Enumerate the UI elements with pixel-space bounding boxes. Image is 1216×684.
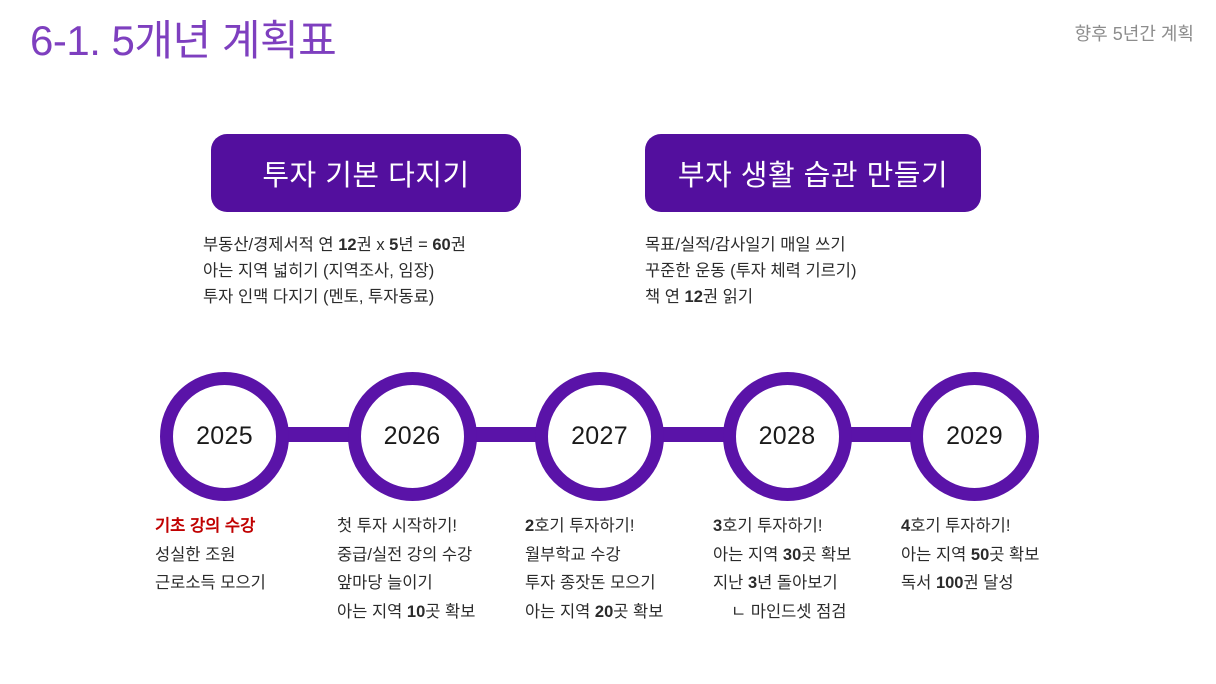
timeline-node-year: 2028 bbox=[759, 422, 816, 451]
timeline-node-2028[interactable]: 2028 bbox=[723, 372, 852, 501]
year-detail-column-2026: 첫 투자 시작하기!중급/실전 강의 수강앞마당 늘이기아는 지역 10곳 확보 bbox=[337, 512, 475, 626]
year-detail-line: 성실한 조원 bbox=[155, 541, 266, 570]
year-detail-line: 지난 3년 돌아보기 bbox=[713, 569, 851, 598]
year-detail-column-2029: 4호기 투자하기!아는 지역 50곳 확보독서 100권 달성 bbox=[901, 512, 1039, 598]
year-detail-line: 3호기 투자하기! bbox=[713, 512, 851, 541]
year-detail-line: 2호기 투자하기! bbox=[525, 512, 663, 541]
year-detail-line: 아는 지역 30곳 확보 bbox=[713, 541, 851, 570]
numeric-emphasis: 100 bbox=[936, 574, 964, 592]
year-detail-line: 첫 투자 시작하기! bbox=[337, 512, 475, 541]
theme-detail-line: 부동산/경제서적 연 12권 x 5년 = 60권 bbox=[203, 232, 466, 258]
timeline-node-2025[interactable]: 2025 bbox=[160, 372, 289, 501]
timeline-node-2026[interactable]: 2026 bbox=[348, 372, 477, 501]
timeline-connector bbox=[848, 427, 915, 442]
year-detail-line: 월부학교 수강 bbox=[525, 541, 663, 570]
page-subtitle: 향후 5년간 계획 bbox=[1075, 24, 1194, 46]
timeline-node-year: 2026 bbox=[384, 422, 441, 451]
year-detail-line: 투자 종잣돈 모으기 bbox=[525, 569, 663, 598]
page-title: 6-1. 5개년 계획표 bbox=[30, 16, 336, 66]
year-detail-line: ㄴ 마인드셋 점검 bbox=[713, 598, 851, 627]
timeline-node-year: 2029 bbox=[946, 422, 1003, 451]
numeric-emphasis: 30 bbox=[783, 546, 801, 564]
numeric-emphasis: 3 bbox=[748, 574, 757, 592]
theme-detail-line: 아는 지역 넓히기 (지역조사, 임장) bbox=[203, 258, 466, 284]
timeline-node-year: 2027 bbox=[571, 422, 628, 451]
numeric-emphasis: 12 bbox=[685, 288, 703, 306]
numeric-emphasis: 3 bbox=[713, 517, 722, 535]
year-detail-line: 아는 지역 10곳 확보 bbox=[337, 598, 475, 627]
timeline-node-2027[interactable]: 2027 bbox=[535, 372, 664, 501]
timeline-connector bbox=[285, 427, 352, 442]
year-detail-line: 아는 지역 50곳 확보 bbox=[901, 541, 1039, 570]
timeline-connector bbox=[660, 427, 727, 442]
numeric-emphasis: 10 bbox=[407, 603, 425, 621]
numeric-emphasis: 5 bbox=[389, 236, 398, 254]
theme-pill-label: 투자 기본 다지기 bbox=[262, 152, 469, 194]
numeric-emphasis: 12 bbox=[338, 236, 356, 254]
year-detail-column-2025: 기초 강의 수강성실한 조원근로소득 모으기 bbox=[155, 512, 266, 598]
numeric-emphasis: 4 bbox=[901, 517, 910, 535]
year-detail-line: 근로소득 모으기 bbox=[155, 569, 266, 598]
year-detail-column-2027: 2호기 투자하기!월부학교 수강투자 종잣돈 모으기아는 지역 20곳 확보 bbox=[525, 512, 663, 626]
year-detail-line: 기초 강의 수강 bbox=[155, 512, 266, 541]
theme-detail-line: 목표/실적/감사일기 매일 쓰기 bbox=[645, 232, 857, 258]
timeline-node-year: 2025 bbox=[196, 422, 253, 451]
timeline-connector bbox=[473, 427, 540, 442]
year-detail-line: 독서 100권 달성 bbox=[901, 569, 1039, 598]
numeric-emphasis: 20 bbox=[595, 603, 613, 621]
theme-detail-list-investment-basics: 부동산/경제서적 연 12권 x 5년 = 60권아는 지역 넓히기 (지역조사… bbox=[203, 232, 466, 310]
theme-detail-line: 투자 인맥 다지기 (멘토, 투자동료) bbox=[203, 284, 466, 310]
numeric-emphasis: 2 bbox=[525, 517, 534, 535]
year-detail-line: 중급/실전 강의 수강 bbox=[337, 541, 475, 570]
theme-pill-label: 부자 생활 습관 만들기 bbox=[678, 152, 948, 194]
timeline-node-2029[interactable]: 2029 bbox=[910, 372, 1039, 501]
year-detail-column-2028: 3호기 투자하기!아는 지역 30곳 확보지난 3년 돌아보기ㄴ 마인드셋 점검 bbox=[713, 512, 851, 626]
year-detail-line: 앞마당 늘이기 bbox=[337, 569, 475, 598]
theme-detail-line: 꾸준한 운동 (투자 체력 기르기) bbox=[645, 258, 857, 284]
theme-pill-investment-basics: 투자 기본 다지기 bbox=[211, 134, 521, 212]
year-detail-line: 아는 지역 20곳 확보 bbox=[525, 598, 663, 627]
numeric-emphasis: 50 bbox=[971, 546, 989, 564]
slide-canvas: 6-1. 5개년 계획표 향후 5년간 계획 투자 기본 다지기 부자 생활 습… bbox=[0, 0, 1216, 684]
year-detail-line: 4호기 투자하기! bbox=[901, 512, 1039, 541]
timeline: 20252026202720282029 bbox=[0, 372, 1216, 504]
theme-detail-line: 책 연 12권 읽기 bbox=[645, 284, 857, 310]
theme-pill-rich-habits: 부자 생활 습관 만들기 bbox=[645, 134, 981, 212]
theme-detail-list-rich-habits: 목표/실적/감사일기 매일 쓰기꾸준한 운동 (투자 체력 기르기)책 연 12… bbox=[645, 232, 857, 310]
numeric-emphasis: 60 bbox=[432, 236, 450, 254]
